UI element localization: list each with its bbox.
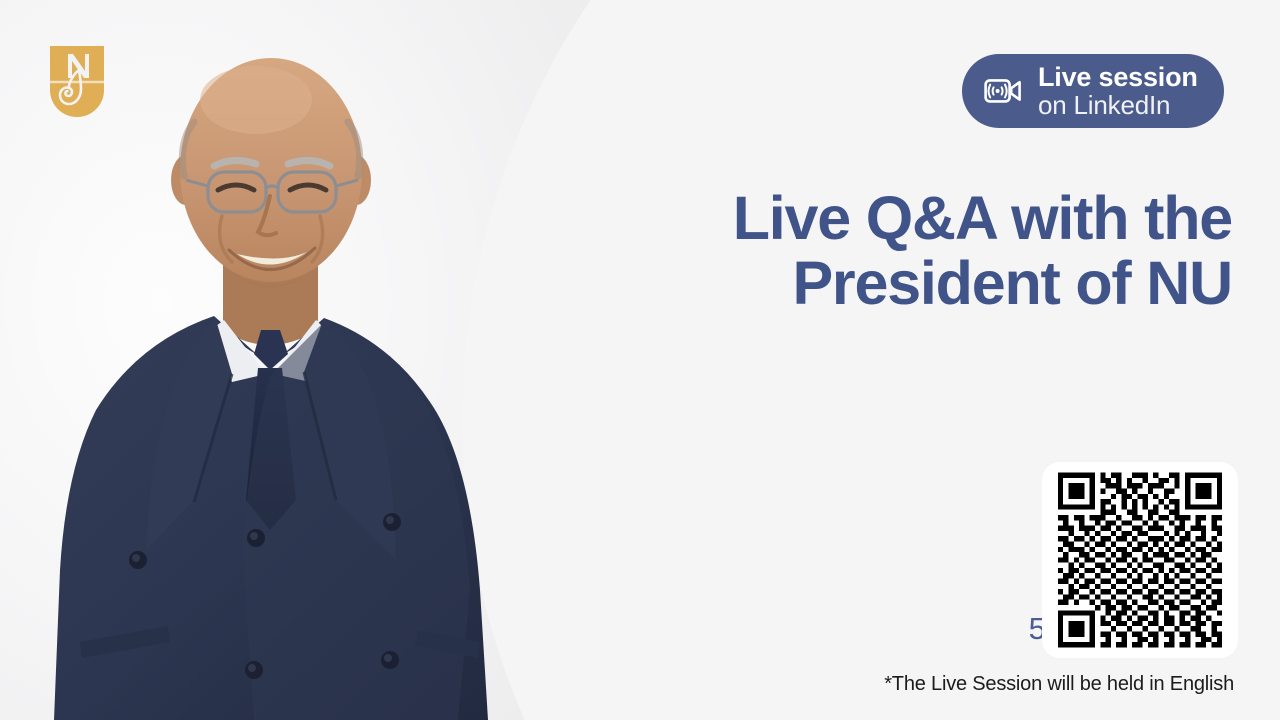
- page-title-line-1: Live Q&A with the: [632, 186, 1232, 251]
- language-footnote: *The Live Session will be held in Englis…: [884, 673, 1234, 696]
- qr-code[interactable]: [1042, 462, 1238, 658]
- page-title-line-2: President of NU: [632, 251, 1232, 316]
- qr-code-card[interactable]: [1042, 462, 1238, 658]
- poster-canvas: Live session on LinkedIn Live Q&A with t…: [0, 0, 1280, 720]
- president-portrait: [18, 30, 538, 720]
- live-session-badge[interactable]: Live session on LinkedIn: [962, 54, 1224, 128]
- portrait-illustration: [18, 30, 538, 720]
- live-video-camera-icon: [984, 76, 1022, 106]
- page-title: Live Q&A with the President of NU: [632, 186, 1232, 317]
- live-session-badge-text: Live session on LinkedIn: [1038, 64, 1198, 118]
- badge-primary-label: Live session: [1038, 64, 1198, 92]
- badge-secondary-label: on LinkedIn: [1038, 92, 1198, 119]
